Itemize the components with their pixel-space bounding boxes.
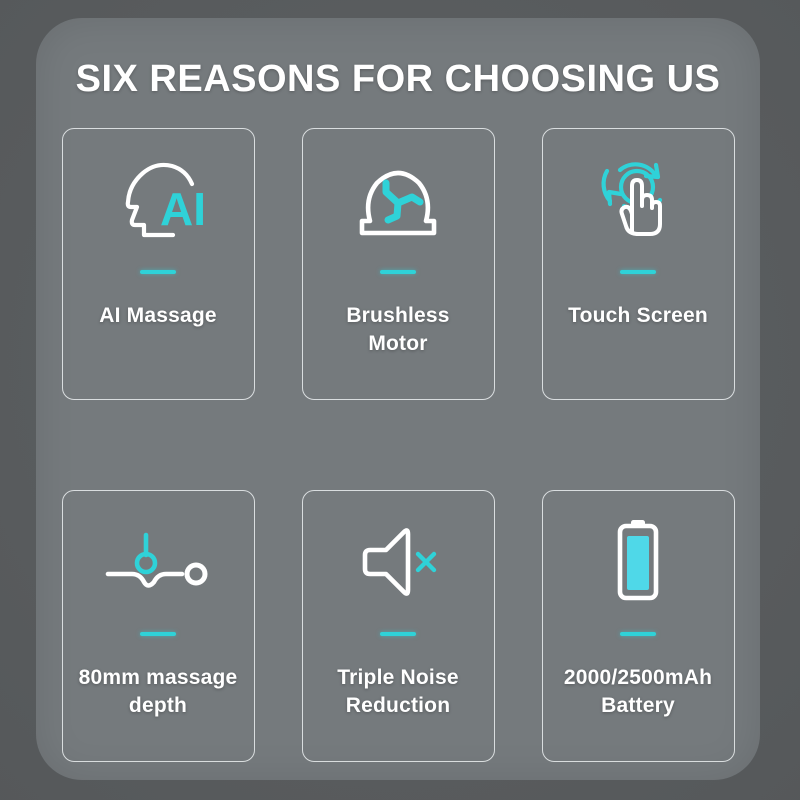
brushless-motor-icon <box>352 159 444 241</box>
icon-container <box>543 129 734 264</box>
feature-grid: AI AI Massage <box>60 128 736 762</box>
battery-icon <box>606 516 670 608</box>
feature-label: 80mm massage depth <box>63 664 254 719</box>
feature-label-line: depth <box>65 692 252 720</box>
massage-depth-icon <box>102 527 214 597</box>
ai-head-icon: AI <box>110 157 206 243</box>
feature-label-line: Brushless <box>305 302 492 330</box>
accent-divider <box>620 270 656 274</box>
feature-label-line: Battery <box>545 692 732 720</box>
icon-container <box>303 491 494 626</box>
feature-card-touch-screen[interactable]: Touch Screen <box>542 128 735 400</box>
icon-container: AI <box>63 129 254 264</box>
feature-label-line: 80mm massage <box>65 664 252 692</box>
content-panel: SIX REASONS FOR CHOOSING US AI AI Massag… <box>36 18 760 780</box>
feature-card-massage-depth[interactable]: 80mm massage depth <box>62 490 255 762</box>
promo-graphic-root: SIX REASONS FOR CHOOSING US AI AI Massag… <box>0 0 800 800</box>
icon-container <box>303 129 494 264</box>
mute-speaker-icon <box>352 524 444 600</box>
accent-divider <box>380 270 416 274</box>
feature-label: Touch Screen <box>543 302 734 330</box>
feature-label: Triple Noise Reduction <box>303 664 494 719</box>
feature-label: 2000/2500mAh Battery <box>543 664 734 719</box>
page-title: SIX REASONS FOR CHOOSING US <box>36 58 760 101</box>
accent-divider <box>620 632 656 636</box>
feature-label-line: Motor <box>305 330 492 358</box>
feature-label-line: Triple Noise <box>305 664 492 692</box>
accent-divider <box>140 270 176 274</box>
feature-label: AI Massage <box>63 302 254 330</box>
accent-divider <box>140 632 176 636</box>
feature-card-noise-reduction[interactable]: Triple Noise Reduction <box>302 490 495 762</box>
svg-text:AI: AI <box>160 183 206 235</box>
feature-label-line: Reduction <box>305 692 492 720</box>
icon-container <box>63 491 254 626</box>
touch-screen-icon <box>590 156 686 244</box>
feature-label-line: 2000/2500mAh <box>545 664 732 692</box>
icon-container <box>543 491 734 626</box>
feature-card-battery[interactable]: 2000/2500mAh Battery <box>542 490 735 762</box>
accent-divider <box>380 632 416 636</box>
feature-card-brushless-motor[interactable]: Brushless Motor <box>302 128 495 400</box>
feature-card-ai-massage[interactable]: AI AI Massage <box>62 128 255 400</box>
feature-label: Brushless Motor <box>303 302 494 357</box>
